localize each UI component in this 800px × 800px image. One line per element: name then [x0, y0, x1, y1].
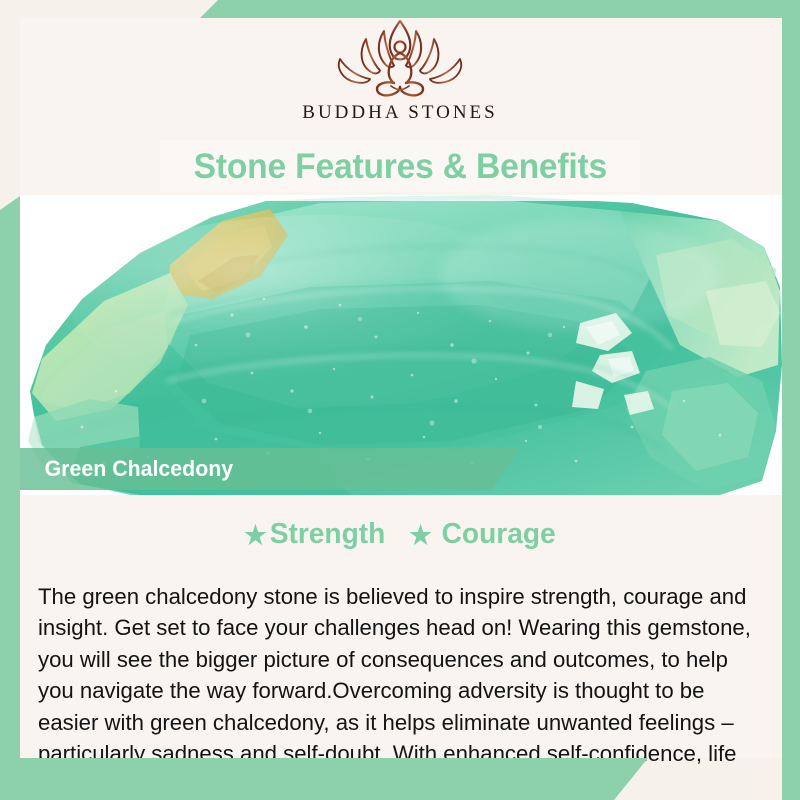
frame-accent-bottom-right: [782, 758, 800, 800]
poster-canvas: BUDDHA STONES Stone Features & Benefits: [0, 0, 800, 800]
frame-accent-bottom: [0, 758, 648, 800]
star-icon: ★: [244, 522, 267, 548]
benefits-row: ★ Strength ★ Courage: [0, 518, 800, 551]
brand-wordmark: BUDDHA STONES: [302, 102, 497, 124]
benefit-courage: ★ Courage: [410, 518, 556, 551]
stone-caption-label: Green Chalcedony: [23, 456, 233, 482]
lotus-meditation-icon: [325, 16, 475, 98]
benefit-strength: ★ Strength: [244, 518, 385, 551]
stone-caption-band: Green Chalcedony: [20, 448, 520, 490]
star-icon: ★: [410, 522, 433, 548]
benefit-courage-label: Courage: [442, 518, 556, 551]
page-title: Stone Features & Benefits: [193, 149, 606, 184]
title-banner: Stone Features & Benefits: [160, 140, 640, 192]
frame-accent-left: [0, 196, 20, 800]
benefit-strength-label: Strength: [269, 518, 385, 551]
